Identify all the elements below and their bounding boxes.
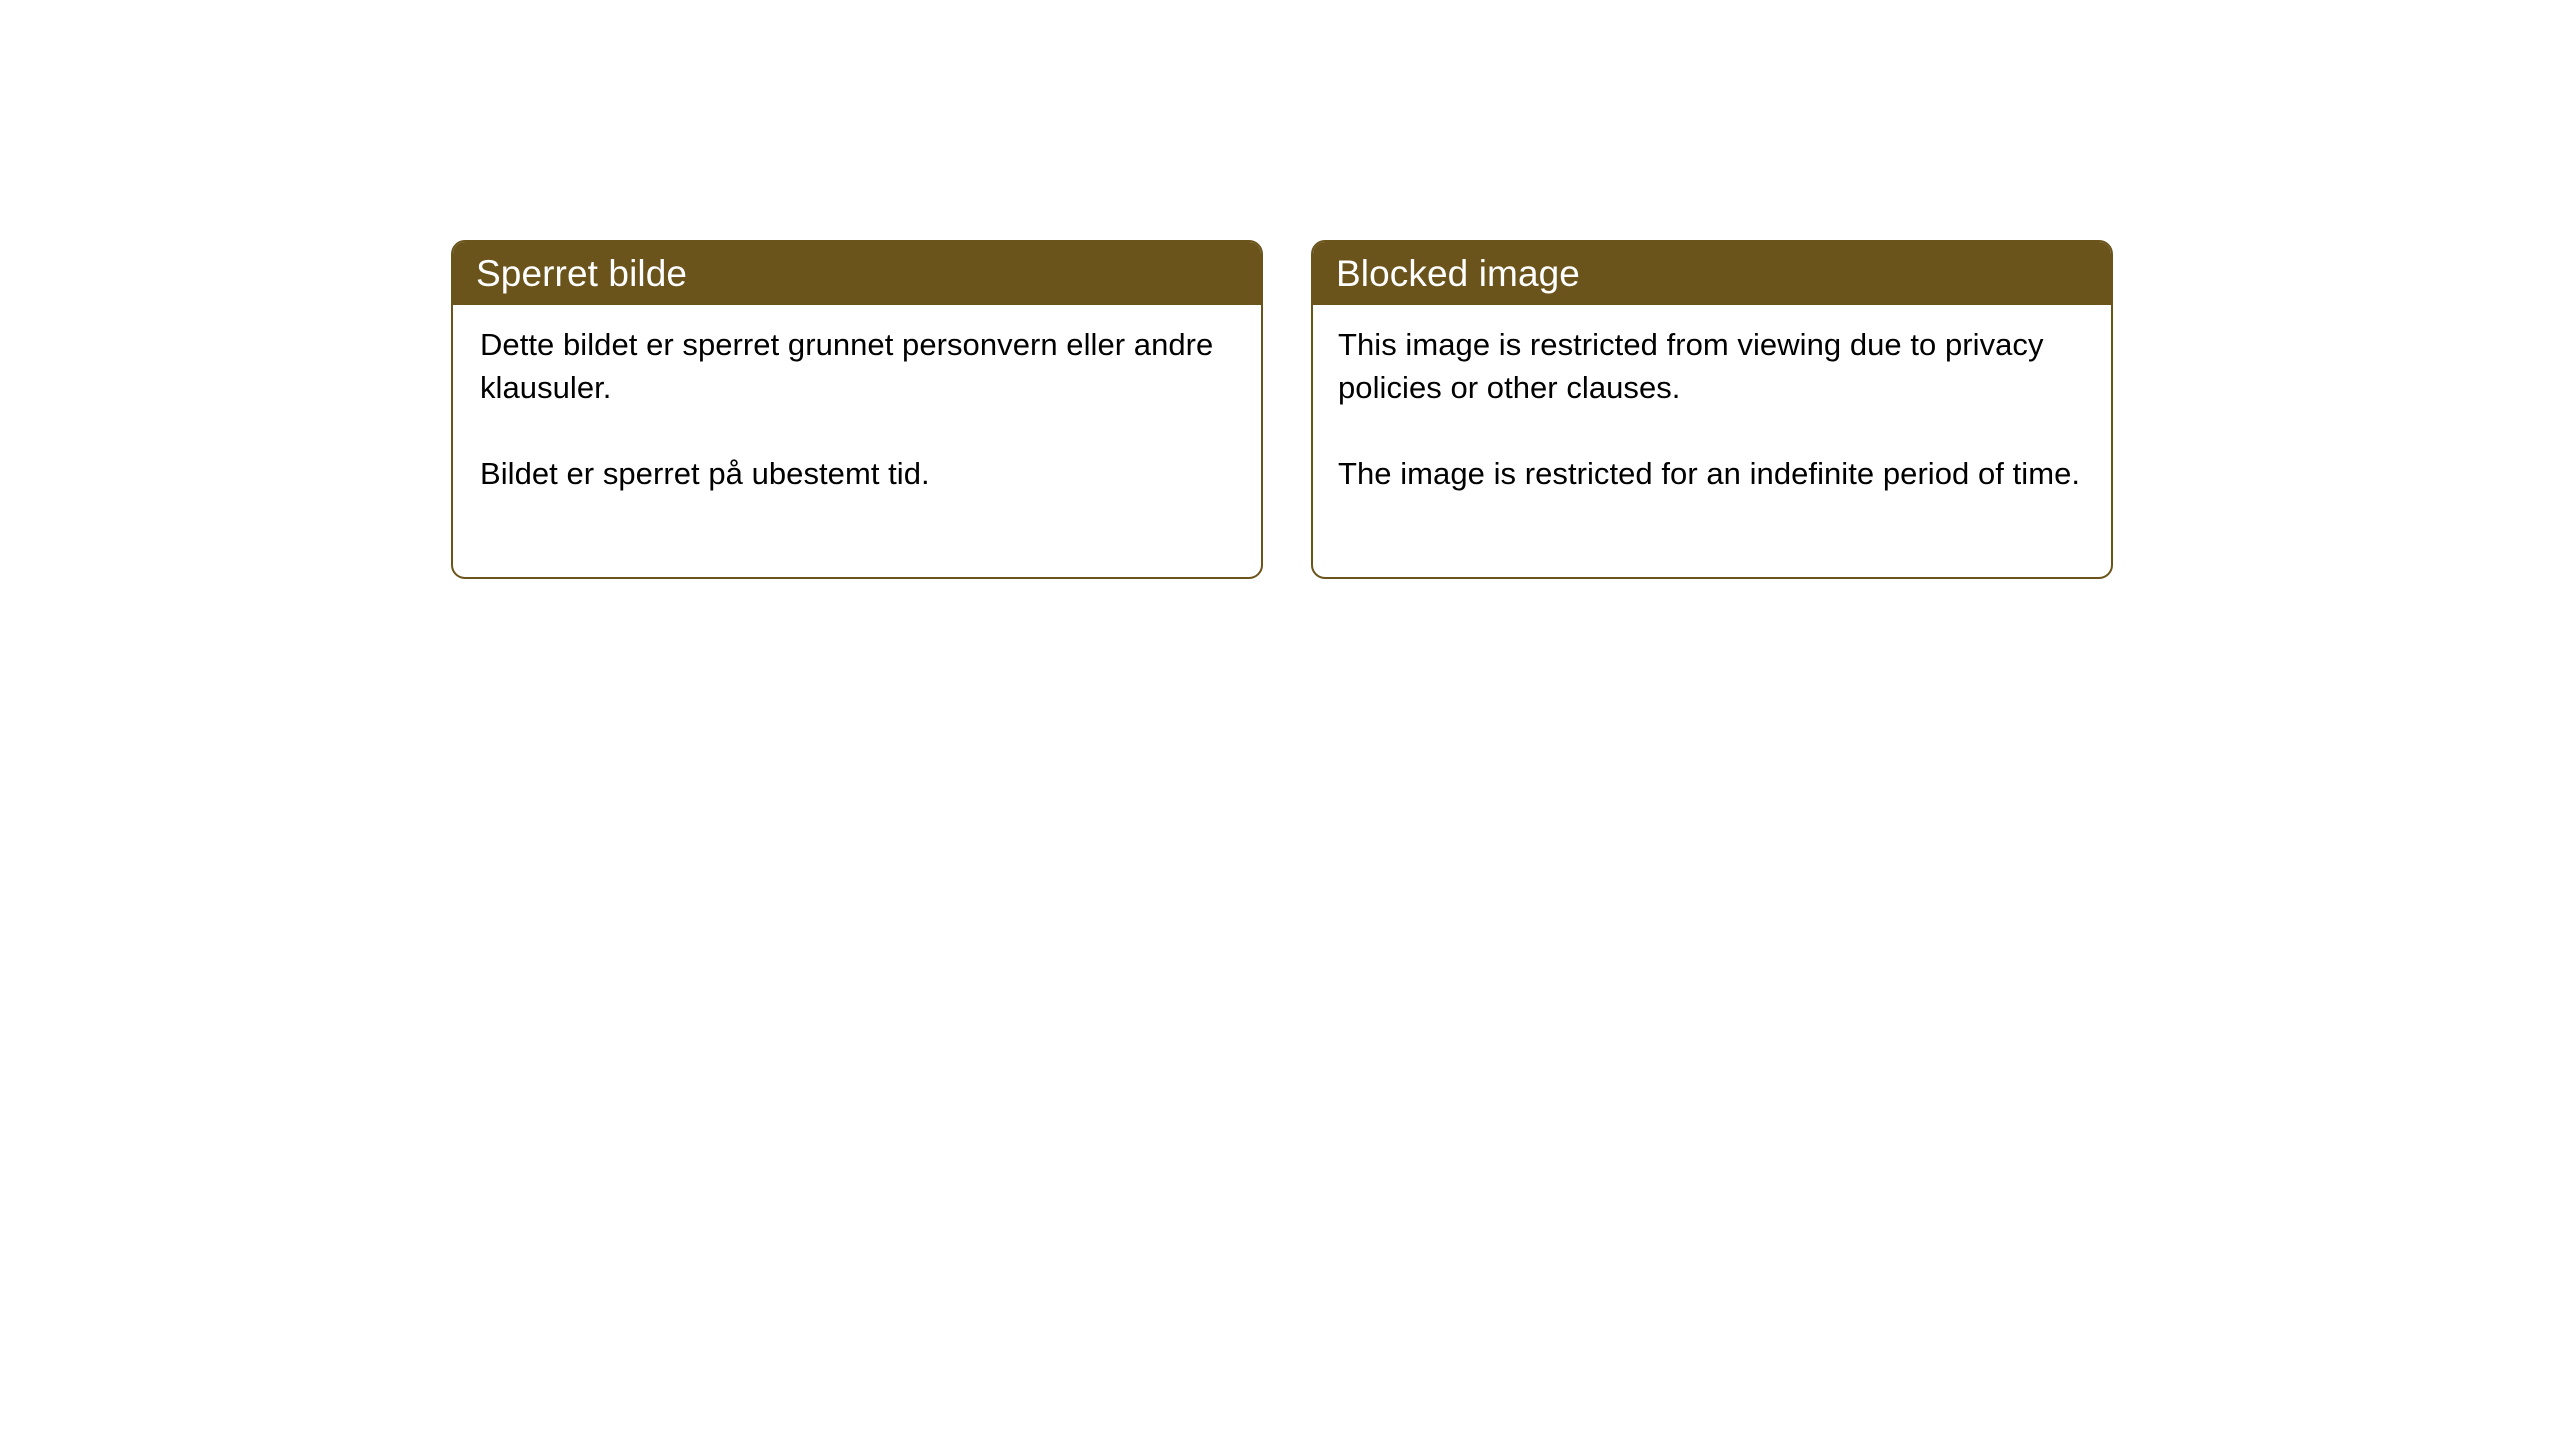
card-title-norwegian: Sperret bilde (476, 255, 687, 292)
card-header-norwegian: Sperret bilde (453, 242, 1261, 305)
blocked-image-card-english: Blocked image This image is restricted f… (1311, 240, 2113, 579)
card-body-norwegian: Dette bildet er sperret grunnet personve… (453, 305, 1261, 495)
card-paragraph-primary-norwegian: Dette bildet er sperret grunnet personve… (480, 323, 1235, 409)
card-paragraph-primary-english: This image is restricted from viewing du… (1338, 323, 2091, 409)
page-root: Sperret bilde Dette bildet er sperret gr… (0, 0, 2560, 1440)
blocked-image-card-norwegian: Sperret bilde Dette bildet er sperret gr… (451, 240, 1263, 579)
card-title-english: Blocked image (1336, 255, 1580, 292)
card-paragraph-secondary-english: The image is restricted for an indefinit… (1338, 452, 2091, 495)
card-header-english: Blocked image (1313, 242, 2111, 305)
card-body-english: This image is restricted from viewing du… (1313, 305, 2111, 495)
card-paragraph-secondary-norwegian: Bildet er sperret på ubestemt tid. (480, 452, 1235, 495)
